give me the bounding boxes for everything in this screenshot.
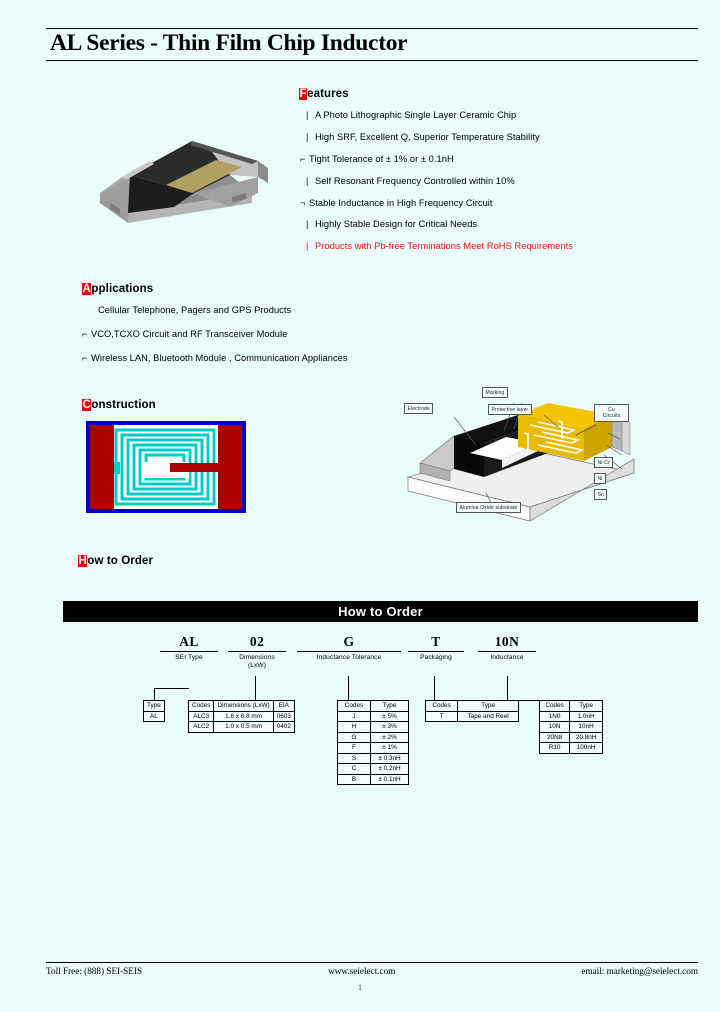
column-header: Type (570, 701, 603, 712)
label-protective-layer: Protective layer (488, 404, 532, 415)
table-cell: ALC3 (189, 711, 214, 722)
list-item: |Products with Pb-free Terminations Meet… (300, 242, 573, 251)
table-row: ALC2 1.0 x 0.5 mm 0402 (189, 722, 295, 733)
table-cell: T (426, 711, 458, 722)
label-ni-cr: Ni-Cr (594, 457, 613, 468)
chip-photo (82, 131, 268, 235)
code-segment-inductance: 10N Inductance (478, 634, 536, 662)
label-ni: Ni (594, 473, 606, 484)
bullet-icon: | (306, 133, 315, 142)
feature-text: Stable Inductance in High Frequency Circ… (309, 199, 493, 208)
column-header: Codes (540, 701, 570, 712)
table-cell: 10nH (570, 722, 603, 733)
table-cell: Tape and Reel (458, 711, 519, 722)
features-list: |A Photo Lithographic Single Layer Ceram… (300, 111, 573, 252)
table-row: T Tape and Reel (426, 711, 519, 722)
table-row: J ± 5% (338, 711, 409, 722)
bullet-icon: ¬ (300, 199, 309, 208)
table-cell: F (338, 743, 371, 754)
footer: Toll Free: (888) SEI-SEIS www.seielect.c… (46, 966, 698, 976)
code-caption: Inductance (478, 654, 536, 662)
feature-text: High SRF, Excellent Q, Superior Temperat… (315, 133, 540, 142)
page-title: AL Series - Thin Film Chip Inductor (46, 29, 698, 59)
column-header: Type (144, 701, 165, 712)
construction-3d-diagram: Electrode Marking Protective layer Cu Ci… (398, 381, 644, 523)
table-cell: 20.8nH (570, 732, 603, 743)
applications-list: Cellular Telephone, Pagers and GPS Produ… (82, 306, 348, 363)
connector-dimensions (255, 676, 256, 700)
applications-heading-cap: A (82, 283, 91, 295)
code-underline (160, 651, 218, 652)
list-item: |High SRF, Excellent Q, Superior Tempera… (300, 133, 573, 142)
table-cell: 1N0 (540, 711, 570, 722)
table-row: H ± 3% (338, 722, 409, 733)
code-caption: SEI Type (160, 654, 218, 662)
type-table: Type AL (143, 700, 165, 722)
table-header-row: Type (144, 701, 165, 712)
footer-website[interactable]: www.seielect.com (328, 966, 395, 976)
list-item: ⌐VCO,TCXO Circuit and RF Transceiver Mod… (82, 330, 348, 339)
spiral-inductor-diagram (86, 421, 246, 513)
applications-heading: Applications (82, 283, 153, 295)
label-substrate: Alumina Oxide substrate (456, 502, 521, 513)
code-value: G (297, 634, 401, 650)
table-header-row: Codes Dimensions (LxW) EIA (189, 701, 295, 712)
bullet-icon: | (306, 111, 315, 120)
title-block: AL Series - Thin Film Chip Inductor (46, 28, 698, 61)
table-row: 10N 10nH (540, 722, 603, 733)
application-text: VCO,TCXO Circuit and RF Transceiver Modu… (91, 330, 287, 339)
table-cell: ± 2% (371, 732, 409, 743)
table-cell: ± 1% (371, 743, 409, 754)
table-cell: J (338, 711, 371, 722)
bullet-icon: | (306, 177, 315, 186)
table-row: R10 100nH (540, 743, 603, 754)
code-value: 02 (228, 634, 286, 650)
table-cell: 1.6 x 0.8 mm (214, 711, 273, 722)
table-cell: C (338, 764, 371, 775)
table-row: ALC3 1.6 x 0.8 mm 0603 (189, 711, 295, 722)
code-segment-tolerance: G Inductance Tolerance (297, 634, 401, 662)
label-sn: Sn (594, 489, 607, 500)
code-underline (478, 651, 536, 652)
footer-toll-free: Toll Free: (888) SEI-SEIS (46, 966, 142, 976)
feature-text: Tight Tolerance of ± 1% or ± 0.1nH (309, 155, 454, 164)
bullet-icon: | (306, 242, 315, 251)
connector-packaging (434, 676, 471, 701)
list-item: |A Photo Lithographic Single Layer Ceram… (300, 111, 573, 120)
table-cell: ± 5% (371, 711, 409, 722)
table-row: C ± 0.2nH (338, 764, 409, 775)
list-item: ⌐Wireless LAN, Bluetooth Module , Commun… (82, 354, 348, 363)
how-to-order-heading-rest: ow to Order (87, 555, 153, 567)
column-header: Codes (189, 701, 214, 712)
label-electrode: Electrode (404, 403, 433, 414)
table-cell: 0603 (273, 711, 294, 722)
table-cell: 20N8 (540, 732, 570, 743)
table-row: B ± 0.1nH (338, 774, 409, 785)
footer-email[interactable]: email: marketing@seielect.com (581, 966, 698, 976)
table-cell: R10 (540, 743, 570, 754)
code-value: AL (160, 634, 218, 650)
how-to-order-banner: How to Order (63, 601, 698, 622)
table-cell: ± 3% (371, 722, 409, 733)
how-to-order-heading: How to Order (78, 555, 153, 567)
table-cell: ± 0.3nH (371, 753, 409, 764)
code-caption: Dimensions (LxW) (228, 654, 286, 671)
application-text: Cellular Telephone, Pagers and GPS Produ… (98, 306, 291, 315)
list-item: |Highly Stable Design for Critical Needs (300, 220, 573, 229)
features-heading-rest: eatures (307, 88, 349, 100)
column-header: Type (458, 701, 519, 712)
code-caption: Packaging (408, 654, 464, 662)
table-row: S ± 0.3nH (338, 753, 409, 764)
code-caption: Inductance Tolerance (297, 654, 401, 662)
column-header: Type (371, 701, 409, 712)
table-cell: ± 0.2nH (371, 764, 409, 775)
table-row: 20N8 20.8nH (540, 732, 603, 743)
connector-inductance (507, 676, 565, 701)
code-value: 10N (478, 634, 536, 650)
list-item: |Self Resonant Frequency Controlled with… (300, 177, 573, 186)
construction-heading: Construction (82, 399, 156, 411)
table-row: 1N0 1.0nH (540, 711, 603, 722)
column-header: EIA (273, 701, 294, 712)
construction-3d-svg (398, 381, 644, 523)
features-heading-cap: F (299, 88, 307, 100)
table-cell: 1.0nH (570, 711, 603, 722)
table-header-row: Codes Type (338, 701, 409, 712)
construction-heading-cap: C (82, 399, 91, 411)
packaging-table: Codes Type T Tape and Reel (425, 700, 519, 722)
application-text: Wireless LAN, Bluetooth Module , Communi… (91, 354, 348, 363)
column-header: Codes (426, 701, 458, 712)
table-header-row: Codes Type (426, 701, 519, 712)
table-cell: 100nH (570, 743, 603, 754)
tolerance-table: Codes Type J ± 5% H ± 3% G ± 2% F ± 1% S… (337, 700, 409, 785)
datasheet-page: AL Series - Thin Film Chip Inductor (0, 0, 720, 1012)
column-header: Dimensions (LxW) (214, 701, 273, 712)
bullet-icon: ⌐ (300, 155, 309, 164)
banner-title: How to Order (338, 604, 423, 619)
table-cell: S (338, 753, 371, 764)
feature-text: Products with Pb-free Terminations Meet … (315, 242, 573, 251)
table-cell: H (338, 722, 371, 733)
features-heading: Features (299, 88, 349, 100)
table-row: G ± 2% (338, 732, 409, 743)
list-item: ⌐Tight Tolerance of ± 1% or ± 0.1nH (300, 155, 573, 164)
bullet-icon: | (306, 220, 315, 229)
label-cu-circuits: Cu Circuits (594, 404, 629, 422)
code-segment-dimensions: 02 Dimensions (LxW) (228, 634, 286, 670)
code-value: T (408, 634, 464, 650)
dimensions-table: Codes Dimensions (LxW) EIA ALC3 1.6 x 0.… (188, 700, 295, 733)
applications-heading-rest: pplications (91, 283, 153, 295)
bullet-icon: ⌐ (82, 354, 91, 363)
column-header: Codes (338, 701, 371, 712)
footer-rule (46, 962, 698, 963)
bullet-icon: ⌐ (82, 330, 91, 339)
code-underline (297, 651, 401, 652)
inductance-table: Codes Type 1N0 1.0nH 10N 10nH 20N8 20.8n… (539, 700, 603, 754)
table-cell: B (338, 774, 371, 785)
table-row: F ± 1% (338, 743, 409, 754)
title-rule-bottom (46, 60, 698, 61)
page-number: 1 (0, 983, 720, 992)
table-header-row: Codes Type (540, 701, 603, 712)
table-cell: G (338, 732, 371, 743)
code-segment-type: AL SEI Type (160, 634, 218, 662)
table-cell: ALC2 (189, 722, 214, 733)
table-cell: AL (144, 711, 165, 722)
code-segment-packaging: T Packaging (408, 634, 464, 662)
feature-text: A Photo Lithographic Single Layer Cerami… (315, 111, 516, 120)
table-cell: 10N (540, 722, 570, 733)
table-cell: 0402 (273, 722, 294, 733)
label-marking: Marking (482, 387, 508, 398)
code-underline (408, 651, 464, 652)
table-cell: 1.0 x 0.5 mm (214, 722, 273, 733)
construction-heading-rest: onstruction (91, 399, 155, 411)
list-item: ¬Stable Inductance in High Frequency Cir… (300, 199, 573, 208)
table-cell: ± 0.1nH (371, 774, 409, 785)
feature-text: Highly Stable Design for Critical Needs (315, 220, 477, 229)
table-row: AL (144, 711, 165, 722)
feature-text: Self Resonant Frequency Controlled withi… (315, 177, 515, 186)
code-underline (228, 651, 286, 652)
list-item: Cellular Telephone, Pagers and GPS Produ… (82, 306, 348, 315)
connector-tolerance (348, 676, 371, 701)
how-to-order-heading-cap: H (78, 555, 87, 567)
